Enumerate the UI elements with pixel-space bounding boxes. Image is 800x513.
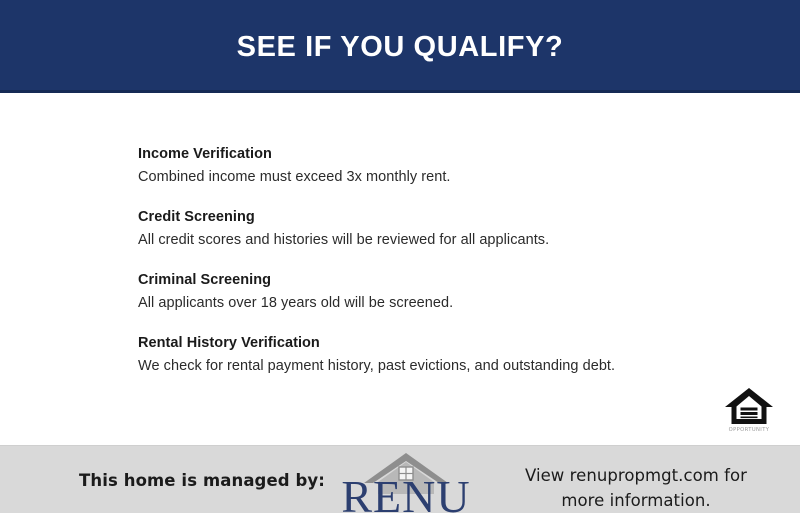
svg-text:RENU: RENU <box>341 471 470 513</box>
qualification-flyer: SEE IF YOU QUALIFY? Income Verification … <box>0 0 800 513</box>
qualification-description-rental-history-verification: We check for rental payment history, pas… <box>138 357 738 377</box>
qualification-heading-criminal-screening: Criminal Screening <box>138 271 738 291</box>
svg-text:OPPORTUNITY: OPPORTUNITY <box>729 427 770 433</box>
list-item: Rental History Verification We check for… <box>138 334 738 376</box>
website-info: View renupropmgt.com for more informatio… <box>502 464 770 513</box>
list-item: Credit Screening All credit scores and h… <box>138 208 738 250</box>
qualification-heading-credit-screening: Credit Screening <box>138 208 738 228</box>
qualification-heading-income-verification: Income Verification <box>138 145 738 165</box>
managed-by-label: This home is managed by: <box>79 473 325 490</box>
qualification-description-credit-screening: All credit scores and histories will be … <box>138 231 738 251</box>
website-line-2: more information. <box>502 489 770 513</box>
qualification-description-criminal-screening: All applicants over 18 years old will be… <box>138 294 738 314</box>
renu-management-logo: RENU MANAGEMENT <box>330 450 482 513</box>
qualification-list: Income Verification Combined income must… <box>138 145 738 377</box>
page-title: SEE IF YOU QUALIFY? <box>237 31 564 62</box>
qualification-heading-rental-history-verification: Rental History Verification <box>138 334 738 354</box>
main-content: Income Verification Combined income must… <box>0 96 800 445</box>
website-line-1: View renupropmgt.com for <box>502 464 770 489</box>
list-item: Criminal Screening All applicants over 1… <box>138 271 738 313</box>
header-banner: SEE IF YOU QUALIFY? <box>0 0 800 93</box>
qualification-description-income-verification: Combined income must exceed 3x monthly r… <box>138 168 738 188</box>
list-item: Income Verification Combined income must… <box>138 145 738 187</box>
equal-housing-opportunity-icon: OPPORTUNITY <box>722 385 776 433</box>
